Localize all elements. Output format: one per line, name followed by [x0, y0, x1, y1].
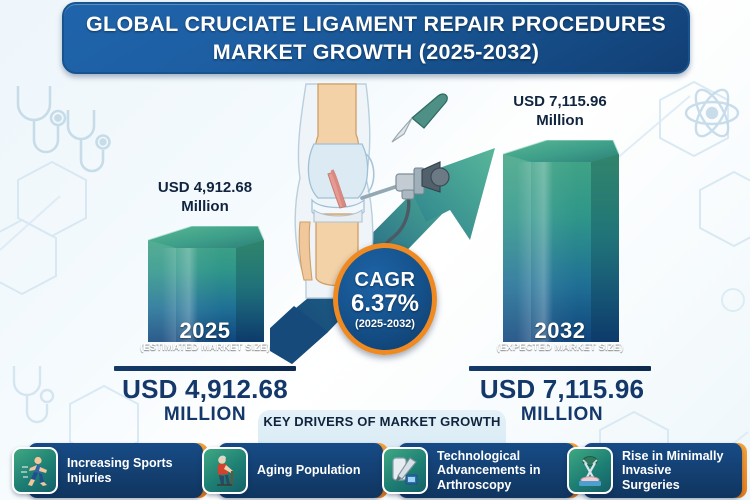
cagr-period: (2025-2032) [355, 318, 415, 330]
bar-3d-2025 [140, 226, 270, 348]
key-drivers-title: KEY DRIVERS OF MARKET GROWTH [258, 414, 506, 429]
bar-value-2025: USD 4,912.68 [158, 179, 252, 196]
footer-main-2025: USD 4,912.68 [80, 375, 330, 404]
title-line-1: GLOBAL CRUCIATE LIGAMENT REPAIR PROCEDUR… [86, 10, 666, 38]
arthroscope-tool-icon [382, 447, 428, 494]
title-line-2: MARKET GROWTH (2025-2032) [213, 38, 539, 66]
driver-card-1[interactable]: Increasing Sports Injuries [12, 443, 208, 498]
bar-value-2032: USD 7,115.96 [513, 93, 606, 110]
driver-card-4[interactable]: Rise in Minimally Invasive Surgeries [567, 443, 747, 498]
infographic-title-panel: GLOBAL CRUCIATE LIGAMENT REPAIR PROCEDUR… [62, 2, 690, 74]
surgical-instruments-icon [567, 447, 613, 494]
driver-label-4: Rise in Minimally Invasive Surgeries [622, 449, 747, 493]
bar-unit-2032: Million [536, 112, 584, 129]
bar-unit-2025: Million [181, 198, 229, 215]
driver-card-3[interactable]: Technological Advancements in Arthroscop… [382, 443, 580, 498]
driver-label-2: Aging Population [257, 463, 376, 478]
cagr-badge: CAGR 6.37% (2025-2032) [333, 243, 437, 355]
atom-icon [686, 85, 738, 141]
footer-main-2032: USD 7,115.96 [437, 375, 687, 404]
running-athlete-icon [12, 447, 58, 494]
scalpel-icon [392, 94, 447, 142]
elderly-person-icon [202, 447, 248, 494]
driver-label-1: Increasing Sports Injuries [67, 456, 208, 485]
cagr-label: CAGR [355, 269, 416, 292]
baseline-2025 [114, 366, 296, 371]
stethoscope-icon [18, 86, 110, 171]
driver-card-2[interactable]: Aging Population [202, 443, 388, 498]
cagr-value: 6.37% [351, 290, 419, 318]
infographic-canvas: GLOBAL CRUCIATE LIGAMENT REPAIR PROCEDUR… [0, 0, 750, 500]
driver-label-3: Technological Advancements in Arthroscop… [437, 449, 580, 493]
